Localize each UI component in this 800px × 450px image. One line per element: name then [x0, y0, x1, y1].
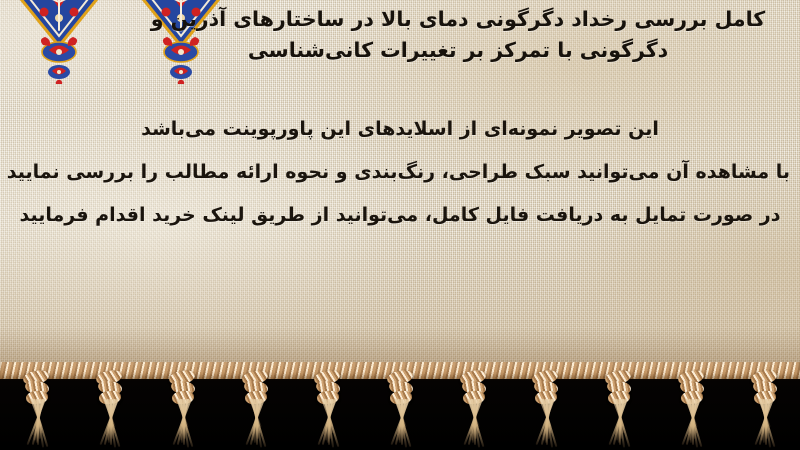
- slide-canvas: کامل بررسی رخداد دگرگونی دمای بالا در سا…: [0, 0, 800, 450]
- fringe-tassel: [160, 368, 204, 450]
- fringe-tassel: [14, 368, 58, 450]
- slide-text-layer: کامل بررسی رخداد دگرگونی دمای بالا در سا…: [0, 0, 800, 372]
- tassel-strands: [93, 399, 127, 449]
- fringe-tassel: [87, 368, 131, 450]
- tassel-strands: [166, 399, 200, 449]
- slide-body: این تصویر نمونه‌ای از اسلایدهای این پاور…: [10, 108, 790, 236]
- slide-title-line-1: کامل بررسی رخداد دگرگونی دمای بالا در سا…: [128, 4, 788, 35]
- tassel-strands: [311, 399, 345, 449]
- tassel-strands: [602, 399, 636, 449]
- tassel-strands: [20, 399, 54, 449]
- tassel-strands: [384, 399, 418, 449]
- fringe-tassel: [305, 368, 349, 450]
- fringe-tassel: [451, 368, 495, 450]
- tassel-strands: [675, 399, 709, 449]
- slide-body-line-1: این تصویر نمونه‌ای از اسلایدهای این پاور…: [10, 108, 790, 151]
- fringe-tassel: [596, 368, 640, 450]
- fringe-tassel: [669, 368, 713, 450]
- fringe-tassel: [523, 368, 567, 450]
- slide-title-line-2: دگرگونی با تمرکز بر تغییرات کانی‌شناسی: [128, 35, 788, 66]
- fringe-tassel: [378, 368, 422, 450]
- carpet-fringe-band: [0, 362, 800, 450]
- tassel-strands: [239, 399, 273, 449]
- tassel-strands: [457, 399, 491, 449]
- fringe-tassel: [233, 368, 277, 450]
- tassel-strands: [748, 399, 782, 449]
- tassel-strands: [529, 399, 563, 449]
- slide-body-line-2: با مشاهده آن می‌توانید سبک طراحی، رنگ‌بن…: [10, 151, 790, 194]
- slide-body-line-3: در صورت تمایل به دریافت فایل کامل، می‌تو…: [10, 194, 790, 237]
- fringe-tassel: [742, 368, 786, 450]
- slide-title: کامل بررسی رخداد دگرگونی دمای بالا در سا…: [128, 4, 788, 66]
